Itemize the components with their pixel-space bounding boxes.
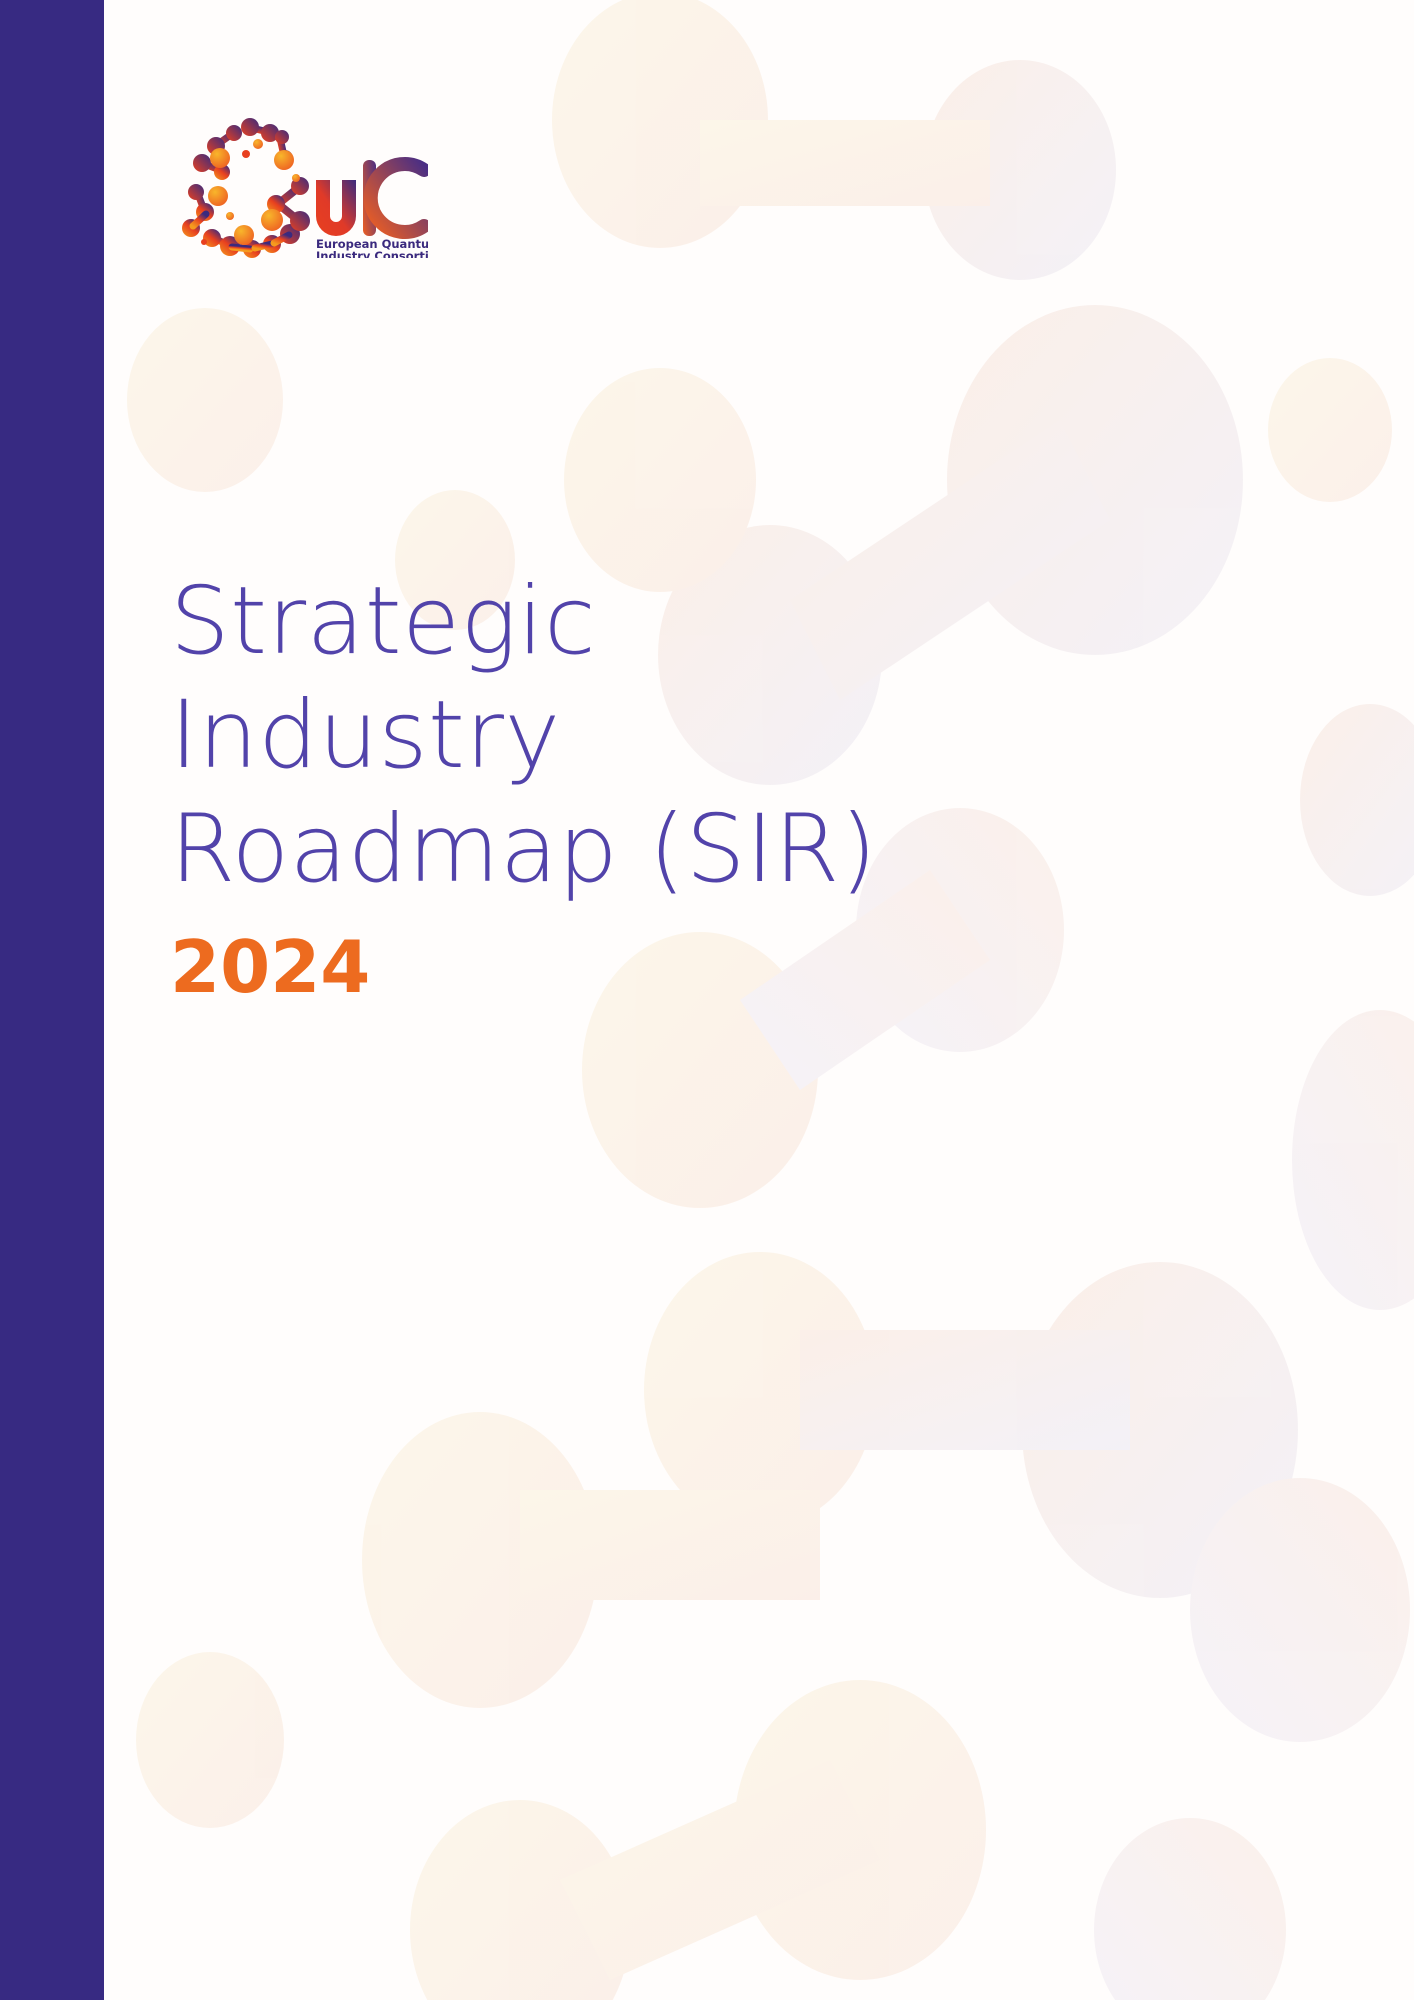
left-accent-bar [0, 0, 104, 2000]
cover-title-block: Strategic Industry Roadmap (SIR) 2024 [170, 565, 1270, 1013]
title-line-1: Strategic [170, 565, 1270, 679]
title-line-3: Roadmap (SIR) [170, 793, 1270, 907]
title-line-2: Industry [170, 679, 1270, 793]
logo-tagline-line2: Industry Consortium [316, 249, 428, 258]
cover-page: European Quantum Industry Consortium Str… [0, 0, 1414, 2000]
quic-logo: European Quantum Industry Consortium [160, 108, 428, 258]
title-year: 2024 [170, 921, 1270, 1013]
